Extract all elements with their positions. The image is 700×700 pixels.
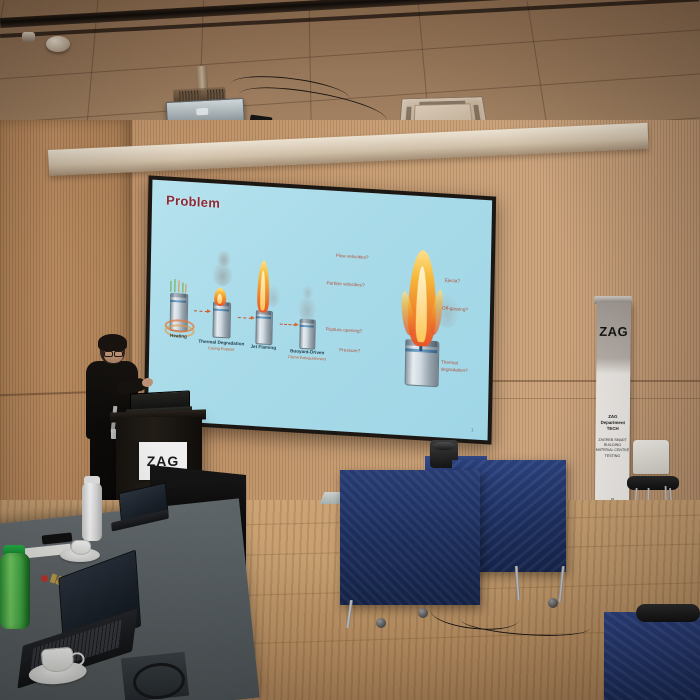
banner-zag-logo: ZAG xyxy=(597,324,631,339)
laptop-background[interactable] xyxy=(108,485,171,532)
question-1: Ejecta? xyxy=(445,278,460,284)
projector-lens-icon xyxy=(196,108,208,116)
projection-screen: Problem Heating xyxy=(144,175,496,444)
step-sublabel-3: Flame Extinguishment xyxy=(279,355,335,362)
table-caster xyxy=(418,608,428,618)
question-6: Thermal degradation? xyxy=(441,359,481,375)
question-2: Particle velocities? xyxy=(326,280,364,287)
smoke-detector-icon xyxy=(46,36,70,52)
question-4: Rupture opening? xyxy=(326,326,363,333)
slide-cell-heating xyxy=(170,293,187,330)
banner-line-1: ZAG Department TECH xyxy=(596,414,630,432)
process-arrow-0 xyxy=(194,310,208,312)
presenter-hair xyxy=(98,334,127,351)
heat-lines-icon xyxy=(169,279,187,294)
conference-room-photo: Problem Heating xyxy=(0,0,700,700)
process-arrow-2 xyxy=(280,324,296,326)
process-arrow-1 xyxy=(238,317,252,319)
process-arrowhead-0 xyxy=(207,309,211,313)
smoke-step-3 xyxy=(266,285,280,308)
process-arrowhead-1 xyxy=(251,315,255,319)
process-arrowhead-2 xyxy=(295,322,299,326)
slide-cell-jet-flaming xyxy=(255,310,271,343)
table-caster xyxy=(548,598,558,608)
table-caster xyxy=(376,618,386,628)
slide-cell-thermal-degradation xyxy=(212,301,229,336)
zag-roll-up-banner: ZAG ZAG Department TECH ZAGREB SMART BUI… xyxy=(595,302,631,502)
foam-bar-foreground xyxy=(636,604,700,622)
banner-line-2: ZAGREB SMART BUILDING MATERIAL CENTRE TE… xyxy=(595,438,629,459)
slide-title: Problem xyxy=(166,192,220,210)
ceiling-speaker-icon xyxy=(22,32,35,42)
question-5: Pressure? xyxy=(339,347,360,353)
blue-draped-table-foreground xyxy=(604,612,700,700)
flame-core-step-2 xyxy=(217,294,222,304)
projector-mount-pole xyxy=(196,66,208,91)
blue-draped-table-left xyxy=(340,470,480,605)
question-0: Flow velocities? xyxy=(336,253,369,260)
coffee-cup-front xyxy=(26,644,87,687)
presentation-slide: Problem Heating xyxy=(148,180,492,441)
slide-page-number: 1 xyxy=(471,427,474,433)
smoke-step-4 xyxy=(298,295,316,322)
slide-cell-buoyant-driven xyxy=(299,319,314,348)
coffee-cup-back xyxy=(60,538,100,562)
white-thermos-bottle xyxy=(82,483,102,541)
